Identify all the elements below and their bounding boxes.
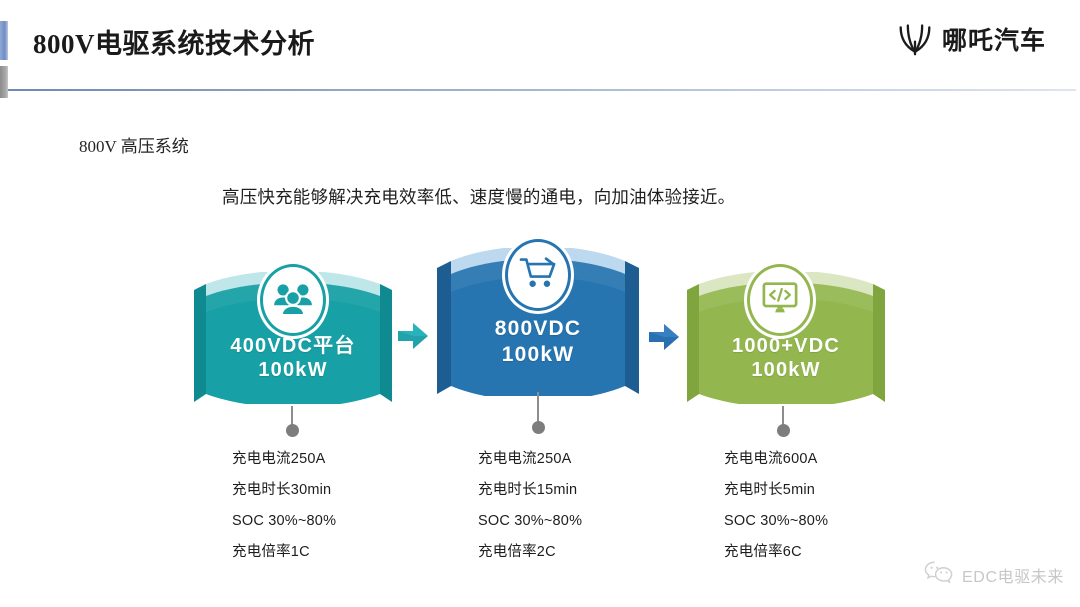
- detail-charge-time: 充电时长5min: [724, 475, 828, 506]
- stage-400vdc-connector-dot: [286, 424, 299, 437]
- stage-400vdc-title-line2: 100kW: [194, 358, 392, 382]
- code-monitor-icon: [762, 281, 798, 320]
- wechat-logo-icon: [924, 560, 954, 590]
- stage-1000vdc-connector-dot: [777, 424, 790, 437]
- detail-charge-current: 充电电流250A: [478, 444, 582, 475]
- flow-diagram: 400VDC平台 100kW: [0, 0, 1080, 607]
- stage-400vdc-icon-badge: [257, 261, 329, 339]
- detail-charge-rate: 充电倍率2C: [478, 537, 582, 568]
- arrow-2: [647, 322, 681, 357]
- stage-1000vdc-icon-badge: [744, 261, 816, 339]
- watermark-text: EDC电驱未来: [962, 563, 1064, 587]
- detail-charge-time: 充电时长30min: [232, 475, 336, 506]
- stage-800vdc-title-line1: 800VDC: [437, 316, 639, 342]
- stage-800vdc-connector-dot: [532, 421, 545, 434]
- watermark: EDC电驱未来: [924, 560, 1064, 590]
- stage-800vdc-icon-badge: [502, 236, 574, 314]
- stage-1000vdc-title-line2: 100kW: [687, 358, 885, 382]
- shopping-cart-icon: [519, 256, 557, 295]
- stage-800vdc-title-line2: 100kW: [437, 342, 639, 368]
- arrow-1: [396, 321, 430, 356]
- detail-charge-current: 充电电流600A: [724, 444, 828, 475]
- detail-charge-rate: 充电倍率1C: [232, 537, 336, 568]
- users-group-icon: [273, 280, 313, 321]
- detail-soc-range: SOC 30%~80%: [232, 506, 336, 537]
- arrow-right-icon: [396, 338, 430, 355]
- detail-soc-range: SOC 30%~80%: [724, 506, 828, 537]
- detail-charge-rate: 充电倍率6C: [724, 537, 828, 568]
- detail-soc-range: SOC 30%~80%: [478, 506, 582, 537]
- stage-800vdc-details: 充电电流250A 充电时长15min SOC 30%~80% 充电倍率2C: [478, 444, 582, 568]
- arrow-right-icon: [647, 339, 681, 356]
- detail-charge-time: 充电时长15min: [478, 475, 582, 506]
- detail-charge-current: 充电电流250A: [232, 444, 336, 475]
- stage-1000vdc-details: 充电电流600A 充电时长5min SOC 30%~80% 充电倍率6C: [724, 444, 828, 568]
- stage-400vdc-details: 充电电流250A 充电时长30min SOC 30%~80% 充电倍率1C: [232, 444, 336, 568]
- slide-canvas: 800V电驱系统技术分析 哪吒汽车 800V 高压系统 高压快充能够解决充电效率…: [0, 0, 1080, 607]
